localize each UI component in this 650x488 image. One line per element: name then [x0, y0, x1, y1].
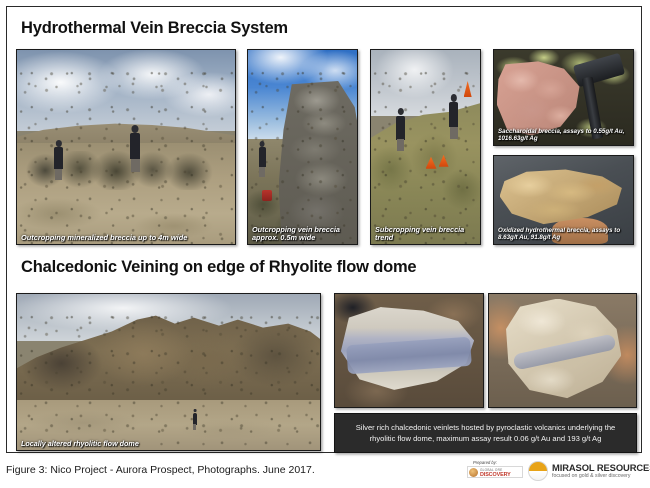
red-backpack [262, 190, 272, 201]
photo-outcropping-vein-breccia[interactable]: Outcropping vein breccia approx. 0.5m wi… [247, 49, 358, 245]
global-ore-discovery-main-text: DISCOVERY [480, 472, 511, 478]
photo-scene [17, 294, 320, 450]
section-title-hydrothermal-vein-breccia: Hydrothermal Vein Breccia System [21, 19, 288, 38]
mirasol-tagline: focused on gold & silver discovery [552, 473, 630, 479]
rock-hammer [572, 56, 628, 140]
texture-layer [17, 50, 235, 244]
global-ore-discovery-mark-icon [469, 468, 478, 477]
photo-caption: Oxidized hydrothermal breccia, assays to… [498, 228, 629, 242]
figure-caption: Figure 3: Nico Project - Aurora Prospect… [6, 464, 315, 476]
photo-caption: Locally altered rhyolitic flow dome [21, 440, 316, 448]
veinlet-caption-bar: Silver rich chalcedonic veinlets hosted … [334, 413, 637, 453]
photo-outcropping-mineralized-breccia[interactable]: Outcropping mineralized breccia up to 4m… [16, 49, 236, 245]
texture-layer [371, 50, 480, 244]
photo-rhyolitic-flow-dome[interactable]: Locally altered rhyolitic flow dome [16, 293, 321, 451]
caption-line: approx. 0.5m wide [252, 233, 315, 242]
prepared-by-label: Prepared by: [473, 460, 497, 465]
photo-scene [335, 294, 483, 407]
photo-caption: Saccharoidal breccia, assays to 0.55g/t … [498, 129, 629, 143]
mirasol-company-name: MIRASOL RESOURCES [552, 462, 650, 473]
person-figure [54, 147, 63, 169]
person-figure-for-scale [193, 413, 197, 425]
photo-caption: Outcropping mineralized breccia up to 4m… [21, 234, 231, 242]
photo-oxidized-hydrothermal-breccia[interactable]: Oxidized hydrothermal breccia, assays to… [493, 155, 634, 245]
global-ore-discovery-logo: GLOBAL ORE DISCOVERY [467, 466, 523, 478]
photo-chalcedonic-veinlet-sample-2[interactable] [488, 293, 637, 408]
photo-chalcedonic-veinlet-sample-1[interactable] [334, 293, 484, 408]
person-figure [449, 102, 458, 127]
person-figure [130, 133, 140, 159]
photo-caption: Outcropping vein breccia approx. 0.5m wi… [252, 226, 353, 242]
hammer-head [573, 53, 625, 87]
prepared-by-block: Prepared by: GLOBAL ORE DISCOVERY [467, 460, 523, 482]
photo-scene [489, 294, 636, 407]
photo-subcropping-vein-breccia-trend[interactable]: Subcropping vein breccia trend [370, 49, 481, 245]
caption-line: rhyolitic flow dome, maximum assay resul… [345, 433, 626, 444]
person-figure [259, 147, 266, 167]
mirasol-resources-logo: MIRASOL RESOURCES focused on gold & silv… [528, 459, 646, 484]
caption-line: Silver rich chalcedonic veinlets hosted … [345, 422, 626, 433]
photo-saccharoidal-breccia[interactable]: Saccharoidal breccia, assays to 0.55g/t … [493, 49, 634, 146]
slide-frame: Hydrothermal Vein Breccia System Outcrop… [6, 6, 642, 453]
photo-caption: Subcropping vein breccia trend [375, 226, 476, 242]
person-figure [396, 116, 405, 140]
photo-scene [17, 50, 235, 244]
photo-scene [371, 50, 480, 244]
section-title-chalcedonic-veining: Chalcedonic Veining on edge of Rhyolite … [21, 258, 416, 277]
mirasol-sun-icon [528, 461, 548, 481]
photo-scene [248, 50, 357, 244]
texture-layer [17, 294, 320, 450]
